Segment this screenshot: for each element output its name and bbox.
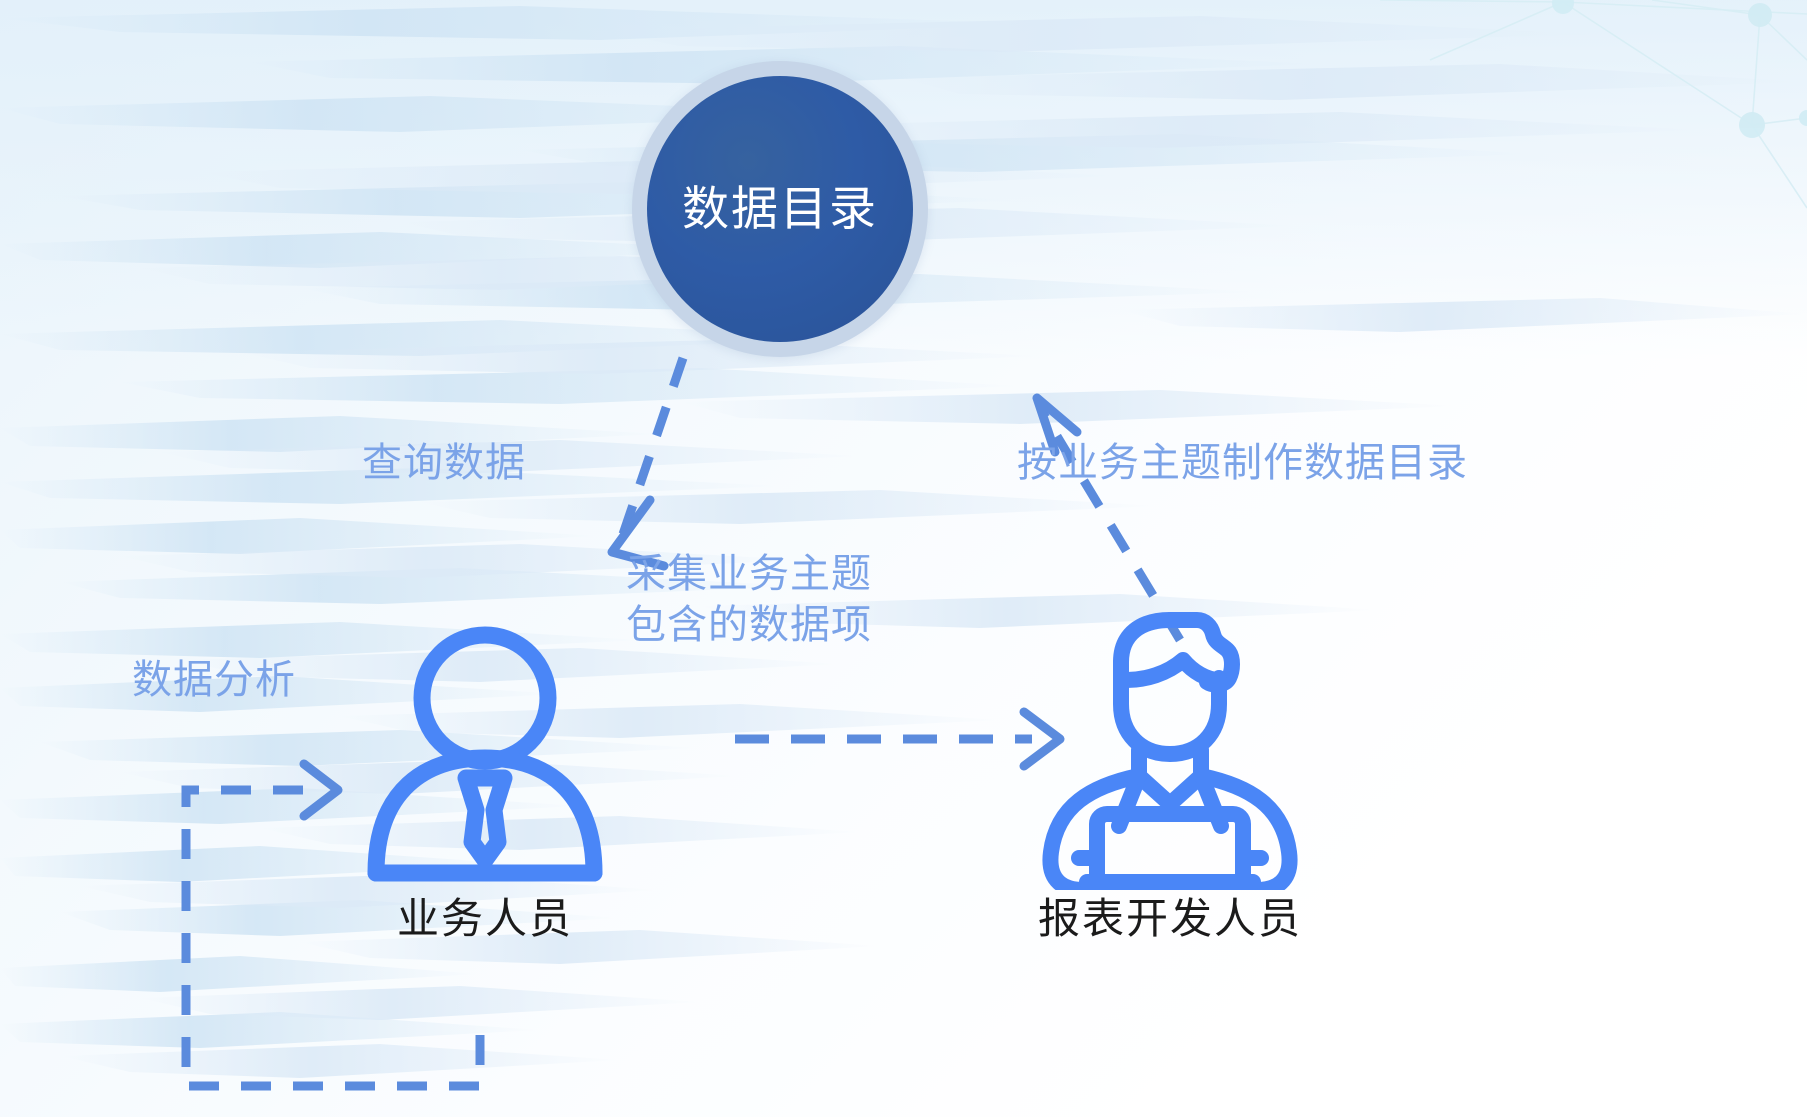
actor-business-person-label: 业务人员 — [397, 896, 573, 942]
diagram-canvas: 数据目录 查询数据 按业务主题制作数据目录 采集业务主题 包含的数据项 数据分析… — [0, 0, 1807, 1117]
person-with-tie-icon — [360, 620, 610, 890]
edge-label-collect-items: 采集业务主题 包含的数据项 — [626, 549, 872, 651]
edge-label-query-data: 查询数据 — [362, 438, 526, 489]
edge-label-collect-items-line2: 包含的数据项 — [626, 600, 872, 651]
actor-business-person[interactable]: 业务人员 — [330, 620, 640, 942]
edge-label-build-catalog: 按业务主题制作数据目录 — [1017, 438, 1468, 489]
edge-label-collect-items-line1: 采集业务主题 — [626, 549, 872, 600]
central-node-circle: 数据目录 — [647, 76, 913, 342]
arrow-query-data — [612, 358, 683, 566]
edge-label-data-analysis: 数据分析 — [132, 655, 296, 706]
actor-report-developer-label: 报表开发人员 — [1038, 896, 1302, 942]
central-node-label: 数据目录 — [682, 186, 878, 233]
developer-with-laptop-icon — [1035, 600, 1305, 890]
actor-report-developer[interactable]: 报表开发人员 — [1000, 600, 1340, 942]
central-node-data-catalog[interactable]: 数据目录 — [632, 61, 928, 357]
